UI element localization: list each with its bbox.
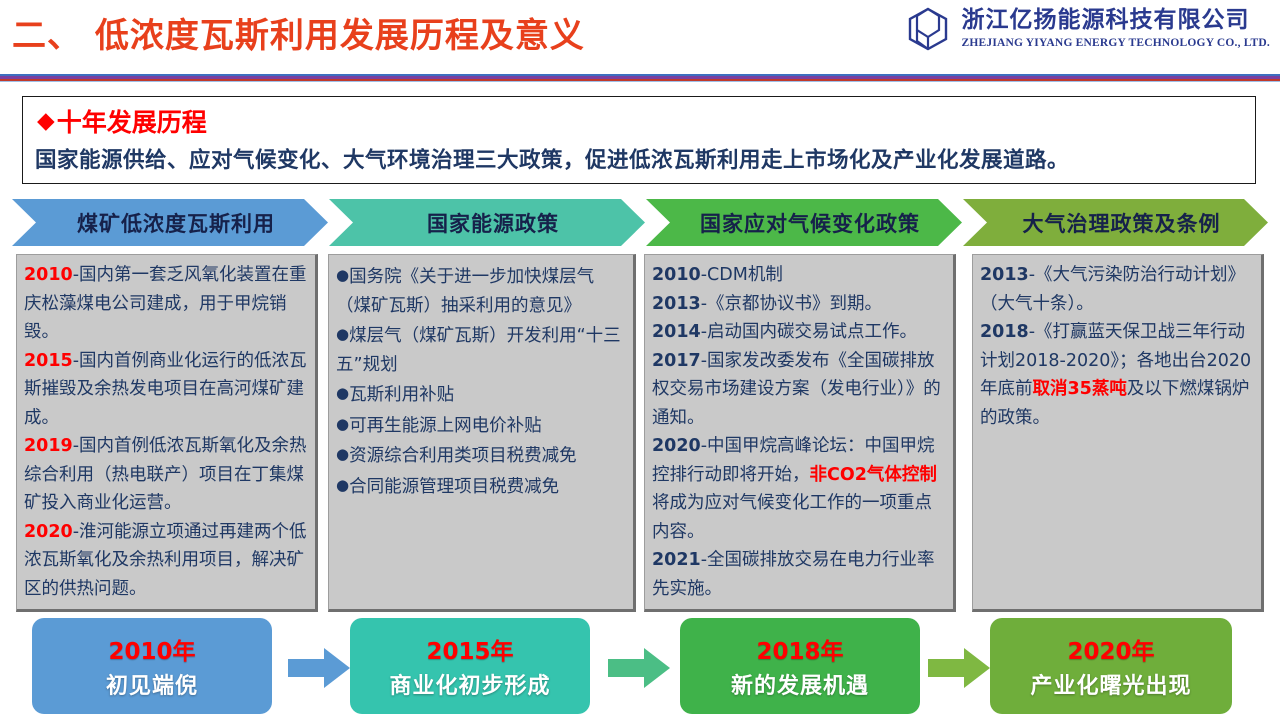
entry-year: 2010 xyxy=(652,265,701,285)
chevron-label: 煤矿低浓度瓦斯利用 xyxy=(77,208,275,238)
panel-entry: 2013-《大气污染防治行动计划》（大气十条）。 xyxy=(980,261,1254,318)
milestone-2010[interactable]: 2010年 初见端倪 xyxy=(32,618,272,714)
bullet-dot-icon: ● xyxy=(336,266,349,284)
panel-entry: 2017-国家发改委发布《全国碳排放权交易市场建设方案（发电行业）》的通知。 xyxy=(652,347,946,433)
entry-year: 2021 xyxy=(652,550,701,570)
company-name-en: ZHEJIANG YIYANG ENERGY TECHNOLOGY CO., L… xyxy=(961,38,1270,50)
entry-text: -《京都协议书》到期。 xyxy=(701,294,882,314)
company-logo: 浙江亿扬能源科技有限公司 ZHEJIANG YIYANG ENERGY TECH… xyxy=(905,6,1270,52)
chevron-air-policy[interactable]: 大气治理政策及条例 xyxy=(963,199,1268,246)
panel-bullet-item: ●煤层气（煤矿瓦斯）开发利用“十三五”规划 xyxy=(336,320,626,379)
milestone-year: 2015年 xyxy=(426,632,513,666)
bullet-text: 可再生能源上网电价补贴 xyxy=(349,416,542,436)
panel-entry: 2020-淮河能源立项通过再建两个低浓瓦斯氧化及余热利用项目，解决矿区的供热问题… xyxy=(24,518,308,604)
panel-bullet-item: ●瓦斯利用补贴 xyxy=(336,379,626,410)
bullet-dot-icon: ● xyxy=(336,445,349,463)
panel-bullet-item: ●国务院《关于进一步加快煤层气（煤矿瓦斯）抽采利用的意见》 xyxy=(336,261,626,320)
milestone-2018[interactable]: 2018年 新的发展机遇 xyxy=(680,618,920,714)
milestone-2015[interactable]: 2015年 商业化初步形成 xyxy=(350,618,590,714)
content-panel-row: 2010-国内第一套乏风氧化装置在重庆松藻煤电公司建成，用于甲烷销毁。2015-… xyxy=(16,254,1264,612)
entry-year: 2020 xyxy=(652,436,701,456)
entry-text: -启动国内碳交易试点工作。 xyxy=(701,322,917,342)
bullet-text: 国务院《关于进一步加快煤层气（煤矿瓦斯）抽采利用的意见》 xyxy=(336,267,594,316)
milestone-year: 2010年 xyxy=(108,632,195,666)
panel-entry: 2010-国内第一套乏风氧化装置在重庆松藻煤电公司建成，用于甲烷销毁。 xyxy=(24,261,308,347)
chevron-label: 国家应对气候变化政策 xyxy=(700,208,920,238)
bullet-text: 煤层气（煤矿瓦斯）开发利用“十三五”规划 xyxy=(336,326,621,375)
footer-strip xyxy=(0,714,1280,720)
arrow-right-icon-3 xyxy=(928,648,990,688)
callout-heading-text: 十年发展历程 xyxy=(57,103,207,139)
chevron-climate-policy[interactable]: 国家应对气候变化政策 xyxy=(646,199,962,246)
milestone-label: 商业化初步形成 xyxy=(389,668,550,700)
entry-year: 2020 xyxy=(24,522,73,542)
arrow-right-icon-1 xyxy=(288,648,350,688)
chevron-banner-row: 煤矿低浓度瓦斯利用 国家能源政策 国家应对气候变化政策 大气治理政策及条例 xyxy=(12,199,1268,246)
panel-entry: 2015-国内首例商业化运行的低浓瓦斯摧毁及余热发电项目在高河煤矿建成。 xyxy=(24,347,308,433)
panel-climate-policy: 2010-CDM机制2013-《京都协议书》到期。2014-启动国内碳交易试点工… xyxy=(644,254,956,612)
panel-entry: 2021-全国碳排放交易在电力行业率先实施。 xyxy=(652,546,946,603)
chevron-label: 国家能源政策 xyxy=(427,208,559,238)
panel-air-policy: 2013-《大气污染防治行动计划》（大气十条）。2018-《打赢蓝天保卫战三年行… xyxy=(972,254,1264,612)
bullet-dot-icon: ● xyxy=(336,476,349,494)
entry-year: 2019 xyxy=(24,436,73,456)
chevron-label: 大气治理政策及条例 xyxy=(1023,208,1221,238)
slide-header: 二、 低浓度瓦斯利用发展历程及意义 浙江亿扬能源科技有限公司 ZHEJIANG … xyxy=(0,0,1280,76)
diamond-bullet-icon: ◆ xyxy=(37,110,55,133)
milestone-label: 初见端倪 xyxy=(106,668,198,700)
chevron-coal-mine-gas[interactable]: 煤矿低浓度瓦斯利用 xyxy=(12,199,328,246)
highlighted-term: 取消35蒸吨 xyxy=(1033,379,1127,399)
panel-entry: 2019-国内首例低浓瓦斯氧化及余热综合利用（热电联产）项目在丁集煤矿投入商业化… xyxy=(24,432,308,518)
bullet-dot-icon: ● xyxy=(336,325,349,343)
arrow-right-icon-2 xyxy=(608,648,670,688)
callout-box: ◆ 十年发展历程 国家能源供给、应对气候变化、大气环境治理三大政策，促进低浓瓦斯… xyxy=(22,96,1256,184)
entry-year: 2010 xyxy=(24,265,73,285)
milestone-row: 2010年 初见端倪 2015年 商业化初步形成 2018年 新的发展机遇 20… xyxy=(0,618,1280,720)
header-divider-rule xyxy=(0,74,1280,82)
callout-heading: ◆ 十年发展历程 xyxy=(37,103,207,139)
panel-energy-policy: ●国务院《关于进一步加快煤层气（煤矿瓦斯）抽采利用的意见》●煤层气（煤矿瓦斯）开… xyxy=(328,254,636,612)
entry-year: 2013 xyxy=(652,294,701,314)
milestone-2020[interactable]: 2020年 产业化曙光出现 xyxy=(990,618,1232,714)
bullet-text: 合同能源管理项目税费减免 xyxy=(349,477,559,497)
entry-year: 2013 xyxy=(980,265,1029,285)
panel-coal-mine-gas: 2010-国内第一套乏风氧化装置在重庆松藻煤电公司建成，用于甲烷销毁。2015-… xyxy=(16,254,318,612)
bullet-text: 资源综合利用类项目税费减免 xyxy=(349,446,577,466)
milestone-year: 2018年 xyxy=(756,632,843,666)
panel-bullet-item: ●合同能源管理项目税费减免 xyxy=(336,471,626,502)
entry-year: 2018 xyxy=(980,322,1029,342)
panel-entry: 2013-《京都协议书》到期。 xyxy=(652,290,946,319)
chevron-energy-policy[interactable]: 国家能源政策 xyxy=(329,199,645,246)
panel-bullet-item: ●资源综合利用类项目税费减免 xyxy=(336,440,626,471)
milestone-label: 新的发展机遇 xyxy=(731,668,869,700)
hexagon-cube-logo-icon xyxy=(905,6,951,52)
bullet-dot-icon: ● xyxy=(336,384,349,402)
company-name-cn: 浙江亿扬能源科技有限公司 xyxy=(961,9,1270,32)
milestone-label: 产业化曙光出现 xyxy=(1030,668,1191,700)
milestone-year: 2020年 xyxy=(1067,632,1154,666)
entry-year: 2015 xyxy=(24,351,73,371)
panel-entry: 2020-中国甲烷高峰论坛：中国甲烷控排行动即将开始，非CO2气体控制将成为应对… xyxy=(652,432,946,546)
panel-entry: 2010-CDM机制 xyxy=(652,261,946,290)
callout-subtitle: 国家能源供给、应对气候变化、大气环境治理三大政策，促进低浓瓦斯利用走上市场化及产… xyxy=(35,143,1069,174)
entry-year: 2014 xyxy=(652,322,701,342)
highlighted-term: 非CO2气体控制 xyxy=(810,465,937,485)
entry-year: 2017 xyxy=(652,351,701,371)
page-title: 二、 低浓度瓦斯利用发展历程及意义 xyxy=(12,8,585,57)
panel-bullet-item: ●可再生能源上网电价补贴 xyxy=(336,410,626,441)
panel-entry: 2014-启动国内碳交易试点工作。 xyxy=(652,318,946,347)
bullet-dot-icon: ● xyxy=(336,415,349,433)
entry-text: -CDM机制 xyxy=(701,265,783,285)
bullet-text: 瓦斯利用补贴 xyxy=(349,385,454,405)
panel-entry: 2018-《打赢蓝天保卫战三年行动计划2018-2020》；各地出台2020年底… xyxy=(980,318,1254,432)
